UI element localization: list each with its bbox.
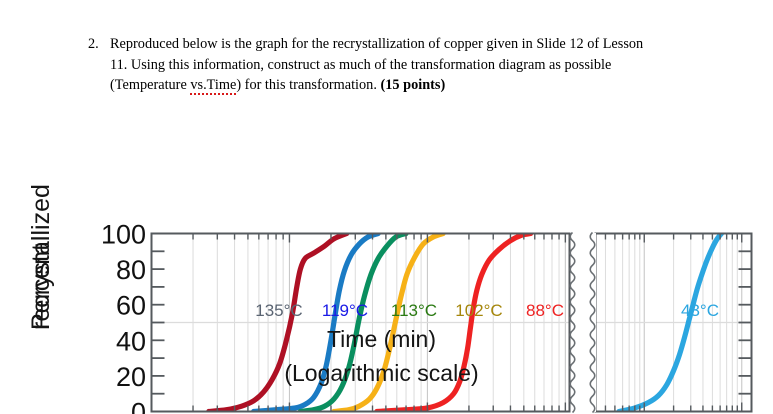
question-line-3: (Temperature vs.Time) for this transform…	[88, 75, 748, 96]
series-annotations: 135°C119°C113°C102°C88°C43°C	[255, 301, 719, 320]
y-tick-label: 0	[131, 398, 146, 414]
question-number: 2.	[88, 34, 110, 55]
y-axis-title: Percent recrystallized	[56, 130, 112, 330]
series-label: 135°C	[255, 301, 302, 320]
series-label: 113°C	[391, 301, 437, 320]
y-tick-label: 80	[116, 255, 146, 285]
series-label: 102°C	[455, 301, 502, 320]
question-points: (15 points)	[380, 77, 445, 93]
spellcheck-underlined-text: vs.Time	[190, 77, 236, 95]
question-line-3-prefix: (Temperature	[110, 77, 190, 93]
question-block: 2. Reproduced below is the graph for the…	[88, 34, 748, 96]
question-line-1-text: Reproduced below is the graph for the re…	[110, 34, 748, 55]
question-line-3-middle: ) for this transformation.	[236, 77, 380, 93]
recrystallization-chart: Percent recrystallized 020406080100 1101…	[0, 104, 773, 414]
y-tick-label: 60	[116, 291, 146, 321]
series-label: 88°C	[526, 301, 564, 320]
series-label: 119°C	[322, 301, 368, 320]
question-line-3-text: (Temperature vs.Time) for this transform…	[110, 75, 748, 96]
question-line-2: 11. Using this information, construct as…	[88, 55, 748, 76]
series-label: 43°C	[681, 301, 719, 320]
y-axis-title-line-2: recrystallized	[27, 184, 56, 330]
x-axis-subtitle: (Logarithmic scale)	[0, 360, 768, 387]
question-line-1: 2. Reproduced below is the graph for the…	[88, 34, 748, 55]
question-line-2-text: 11. Using this information, construct as…	[110, 55, 748, 76]
x-axis-title: Time (min)	[0, 326, 768, 353]
